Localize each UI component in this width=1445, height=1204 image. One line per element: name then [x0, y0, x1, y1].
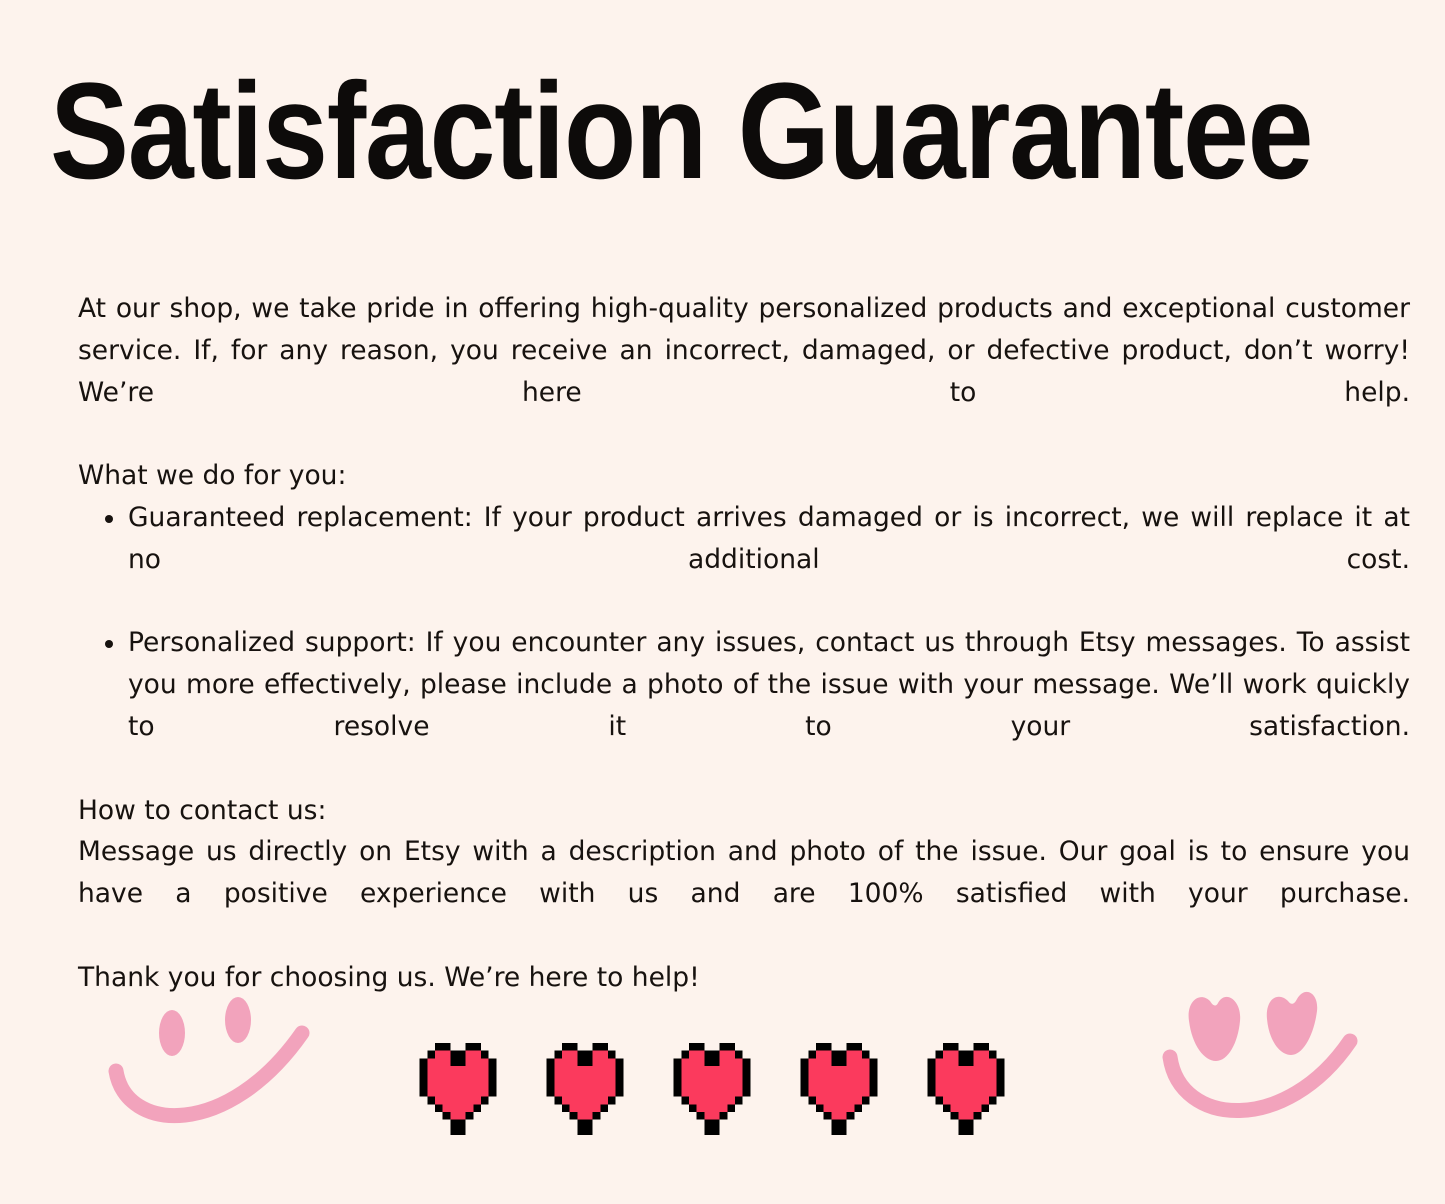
what-we-do-list: Guaranteed replacement: If your product …: [78, 497, 1410, 790]
decorative-footer: [0, 965, 1445, 1175]
what-we-do-heading: What we do for you:: [78, 455, 1410, 497]
list-item: Personalized support: If you encounter a…: [78, 622, 1410, 789]
smiley-face-heart-eyes-icon: [1160, 979, 1375, 1144]
pixel-heart-icon: [793, 1043, 885, 1135]
pixel-heart-icon: [920, 1043, 1012, 1135]
satisfaction-guarantee-page: Satisfaction Guarantee At our shop, we t…: [0, 0, 1445, 1204]
pixel-heart-icon: [412, 1043, 504, 1135]
list-item: Guaranteed replacement: If your product …: [78, 497, 1410, 622]
how-to-contact-heading: How to contact us:: [78, 790, 1410, 832]
smiley-face-oval-eyes-icon: [100, 983, 315, 1148]
list-item-label: Guaranteed replacement: If your product …: [128, 497, 1410, 622]
bullet-dot-icon: [105, 515, 113, 523]
pixel-heart-row: [412, 1043, 1012, 1143]
bullet-dot-icon: [105, 640, 113, 648]
pixel-heart-icon: [539, 1043, 631, 1135]
intro-paragraph: At our shop, we take pride in offering h…: [78, 288, 1410, 455]
list-item-label: Personalized support: If you encounter a…: [128, 622, 1410, 789]
body-content: At our shop, we take pride in offering h…: [78, 288, 1410, 999]
pixel-heart-icon: [666, 1043, 758, 1135]
contact-paragraph: Message us directly on Etsy with a descr…: [78, 831, 1410, 956]
page-title: Satisfaction Guarantee: [50, 62, 1213, 202]
